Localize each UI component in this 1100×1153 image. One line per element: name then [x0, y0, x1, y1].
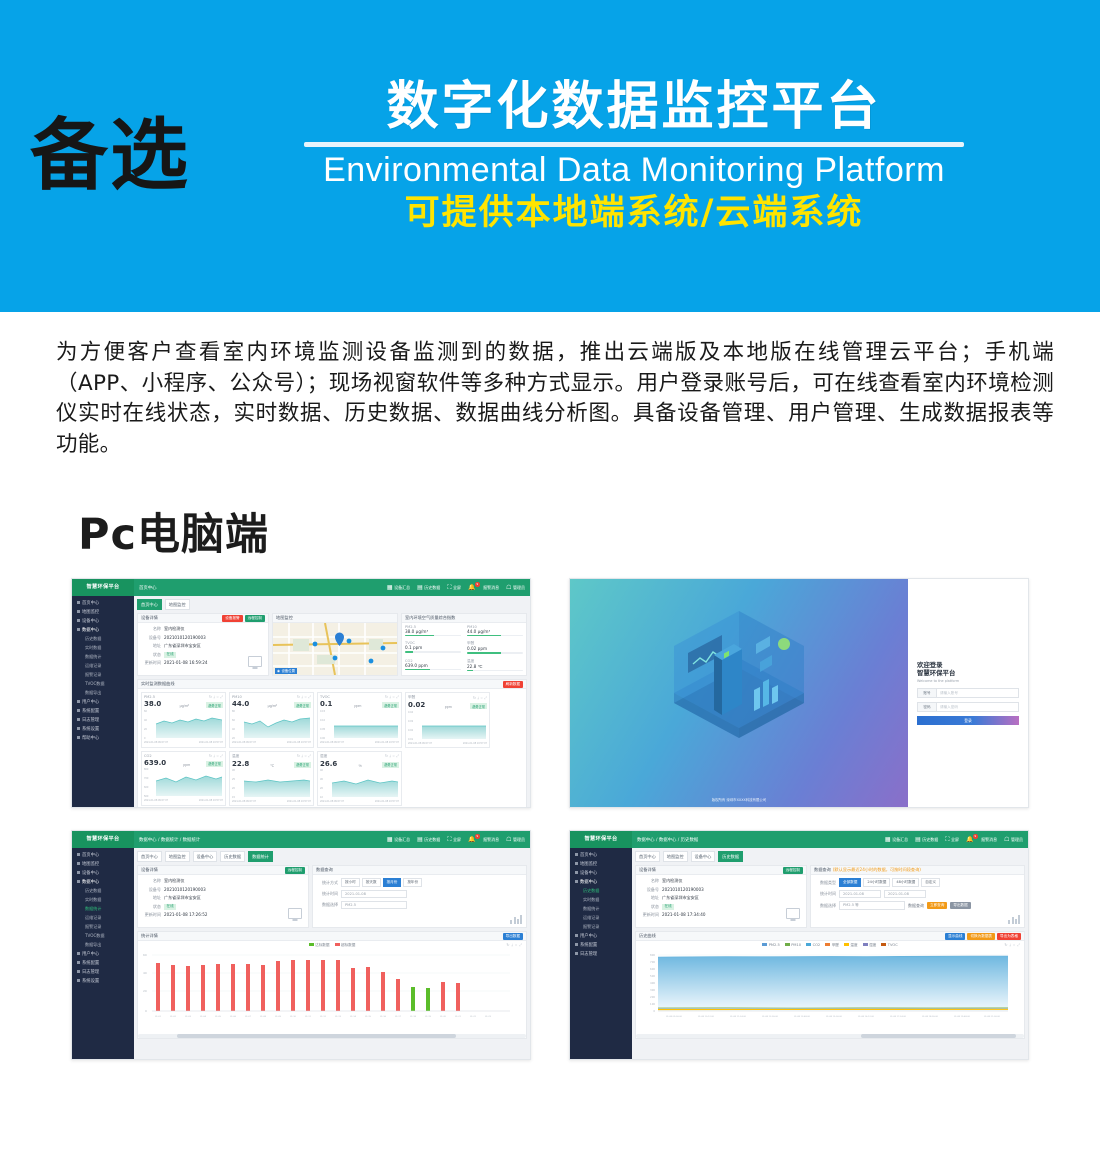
metric-value: 22.8: [232, 760, 249, 768]
statistics-method-segmented[interactable]: 按小时 按天数 按月份 按年份: [341, 878, 422, 887]
data-select-dropdown[interactable]: PM2.5 等: [839, 901, 905, 910]
account-field-label: 账号: [918, 689, 937, 697]
tab-devices[interactable]: 设备中心: [193, 851, 218, 862]
sparkline-x-axis: 2021-01-08 09:07:072021-01-08 16:57:07: [320, 800, 399, 803]
show-curve-button[interactable]: 显示曲线: [945, 933, 965, 940]
location-pin-icon: ◉: [277, 669, 280, 673]
tab-strip: 首页中心 地图监控 设备中心 历史数据: [635, 851, 1025, 862]
screenshot-history-page[interactable]: 智慧环保平台 数据中心 / 数据中心 / 历史数据 ▦设备汇总 ▤历史数据 ⛶全…: [569, 830, 1029, 1060]
legend-item-exceed[interactable]: 超标数据: [335, 943, 356, 948]
card-icon-group[interactable]: ↻⤓○⤢: [385, 695, 399, 699]
sidebar: 首页中心 地图监控 设备中心 数据中心 历史数据 实时数据 数据统计 运维记录 …: [72, 596, 134, 807]
topbar-tool-analysis[interactable]: ▦设备汇总: [885, 837, 908, 843]
sidebar-item-logs[interactable]: 日志管理: [72, 967, 134, 976]
metric-value: 26.6: [320, 760, 337, 768]
sparkline-chart: 6040200: [144, 710, 223, 740]
legend-label: 湿度: [869, 943, 876, 947]
user-icon: ☖: [1004, 837, 1009, 843]
topbar-tool-alerts[interactable]: 🔔9报警消息: [468, 837, 499, 843]
date-end-input[interactable]: 2021-01-08: [884, 890, 926, 898]
settings-icon: ○: [515, 943, 517, 947]
query-now-button[interactable]: 立即查询: [927, 902, 947, 909]
app-brand[interactable]: 智慧环保平台: [72, 579, 134, 596]
metric-card[interactable]: CO2 ↻⤓○⤢ 639.0 ppm 趋势正常: [141, 751, 226, 807]
date-start-input[interactable]: 2021-01-08: [839, 890, 881, 898]
login-account-field[interactable]: 账号 请输入账号: [917, 688, 1019, 698]
chart-scrollbar[interactable]: [636, 1034, 1024, 1038]
field-key: 名称: [141, 626, 161, 632]
refresh-icon: ↻: [506, 943, 509, 947]
expand-icon: ⤢: [396, 754, 399, 758]
query-row-dataselect: 数据选择 PM2.5 等 数据查询 立即查询 导出数据: [814, 901, 1021, 910]
svg-text:600: 600: [650, 967, 655, 971]
metric-card[interactable]: PM2.5 ↻⤓○⤢ 38.0 µg/m³ 趋势正常: [141, 692, 226, 748]
seg-option-year[interactable]: 按年份: [403, 878, 422, 887]
metric-card[interactable]: 温度 ↻⤓○⤢ 22.8 ℃ 趋势正常: [229, 751, 314, 807]
metric-card[interactable]: 湿度 ↻⤓○⤢ 26.6 % 趋势正常: [317, 751, 402, 807]
download-icon: ⤓: [389, 754, 391, 758]
bar-chart-svg: 6040200: [138, 949, 516, 1027]
sidebar-item-home[interactable]: 首页中心: [72, 850, 134, 859]
sidebar-item-label: 日志管理: [82, 969, 99, 975]
sidebar-item-devices[interactable]: 设备中心: [72, 868, 134, 877]
y-tick: 60: [232, 719, 235, 722]
topbar-tool-fullscreen[interactable]: ⛶全屏: [447, 837, 461, 843]
device-detail-panel: 设备详情 远程控制 名称室内检测仪 设备号2021010120190003 地址…: [635, 865, 807, 928]
legend-item-pm10[interactable]: PM10: [785, 943, 801, 948]
seg-option-day[interactable]: 按天数: [362, 878, 381, 887]
metric-tag: 趋势正常: [206, 761, 223, 767]
topbar-tool-fullscreen[interactable]: ⛶全屏: [945, 837, 959, 843]
report-icon: ▤: [417, 837, 423, 843]
sidebar-item-label: TVOC数据: [85, 681, 105, 687]
legend-item-pm25[interactable]: PM2.5: [762, 943, 779, 948]
download-icon: ⤓: [389, 695, 391, 699]
remote-control-button[interactable]: 远程控制: [285, 867, 305, 874]
svg-text:01-07: 01-07: [245, 1016, 252, 1018]
sidebar-item-alarms[interactable]: 报警记录: [72, 922, 134, 931]
app-brand[interactable]: 智慧环保平台: [570, 831, 632, 848]
env-cell-bar: [405, 651, 461, 653]
env-cell-value: 38.0 µg/m³: [405, 629, 461, 634]
sidebar-item-export[interactable]: 数据导出: [72, 688, 134, 697]
sidebar-item-label: 报警记录: [85, 672, 101, 678]
map-canvas[interactable]: ◉ 设备位置: [273, 623, 397, 675]
chart-scrollbar[interactable]: [138, 1034, 526, 1038]
panel-title: 地图监控: [276, 615, 293, 621]
sidebar-item-devices[interactable]: 设备中心: [570, 868, 632, 877]
expand-icon: ⤢: [308, 754, 311, 758]
sidebar: 首页中心 地图监控 设备中心 数据中心 历史数据 实时数据 数据统计 运维记录 …: [570, 848, 632, 1059]
topbar-tool-user[interactable]: ☖管理员: [1004, 837, 1023, 843]
chart-toolbox[interactable]: ↻⤓○⤢: [1004, 943, 1020, 947]
tab-map[interactable]: 地图监控: [165, 851, 190, 862]
x-tick: 2021-01-08 09:07:07: [232, 800, 256, 803]
query-row-daterange: 统计时间 2021-01-08 2021-01-08: [814, 890, 1021, 898]
download-icon: ⤓: [477, 696, 479, 700]
field-key: 更新时间: [639, 912, 659, 918]
sidebar-item-alarms[interactable]: 报警记录: [570, 922, 632, 931]
topbar-tool-alerts[interactable]: 🔔9报警消息: [966, 837, 997, 843]
password-field-placeholder: 请输入密码: [937, 705, 958, 710]
hero-title-en: Environmental Data Monitoring Platform: [208, 151, 1060, 190]
section-title-pc: Pc电脑端: [78, 500, 1100, 562]
expand-icon: ⤢: [396, 695, 399, 699]
topbar-tool-label: 全屏: [453, 837, 461, 843]
svg-text:01-08 17:24:00: 01-08 17:24:00: [890, 1016, 907, 1018]
sidebar-item-label: 日志管理: [82, 717, 99, 723]
export-data-button[interactable]: 导出数据: [503, 933, 523, 940]
hero-title-cn: 数字化数据监控平台: [208, 80, 1060, 135]
sidebar-item-realtime[interactable]: 实时数据: [72, 895, 134, 904]
seg-option-24h[interactable]: 24小时数据: [863, 878, 890, 887]
field-value: 2021010120190003: [164, 887, 206, 893]
password-field-label: 密码: [918, 703, 937, 711]
card-icon-group[interactable]: ↻⤓○⤢: [209, 695, 223, 699]
sidebar-item-config[interactable]: 系统配置: [570, 940, 632, 949]
login-subtitle: Welcome to the platform: [917, 679, 1019, 683]
env-cell-value: 0.02 ppm: [467, 646, 523, 651]
topbar-tool-user[interactable]: ☖ 管理员: [506, 585, 525, 591]
env-cell-value: 639.0 ppm: [405, 663, 461, 668]
panel-title: 统计详情: [141, 933, 158, 939]
field-key: 地址: [141, 895, 161, 901]
metric-value: 0.1: [320, 700, 332, 708]
query-label: 统计方式: [316, 880, 338, 886]
data-select-dropdown[interactable]: PM2.5: [341, 901, 407, 909]
date-picker-input[interactable]: 2021-01-08: [341, 890, 407, 898]
topbar-tool-analysis[interactable]: ▦ 设备汇总: [387, 585, 410, 591]
env-cell: PM2.5 38.0 µg/m³: [402, 623, 464, 640]
app-brand[interactable]: 智慧环保平台: [72, 831, 134, 848]
metric-name: 温度: [232, 754, 239, 759]
sidebar-item-data[interactable]: 数据中心: [570, 877, 632, 886]
sidebar-item-help[interactable]: 帮助中心: [72, 733, 134, 742]
expand-icon: ⤢: [1017, 943, 1020, 947]
sidebar-item-label: 数据导出: [85, 942, 101, 948]
svg-text:01-15: 01-15: [365, 1016, 372, 1018]
screenshot-row-1: 智慧环保平台 首页中心 ▦ 设备汇总 ▤ 历史数据 ⛶ 全屏: [0, 578, 1100, 808]
svg-text:300: 300: [650, 988, 655, 992]
sidebar-item-users[interactable]: 用户中心: [570, 931, 632, 940]
sidebar-item-map[interactable]: 地图监控: [72, 607, 134, 616]
topbar-tool-report[interactable]: ▤历史数据: [915, 837, 938, 843]
svg-text:01-02: 01-02: [170, 1016, 177, 1018]
metric-name: PM10: [232, 695, 242, 699]
sidebar-item-data[interactable]: 数据中心: [72, 877, 134, 886]
y-tick: 80: [232, 710, 235, 713]
sidebar-item-config[interactable]: 系统配置: [72, 958, 134, 967]
env-cell-bar: [467, 652, 523, 654]
field-key: 地址: [141, 643, 161, 649]
remote-control-button[interactable]: 远程控制: [245, 615, 265, 622]
topbar-tool-alerts[interactable]: 🔔 9 报警消息: [468, 585, 499, 591]
device-alarm-button[interactable]: 设备报警: [222, 615, 242, 622]
sidebar-item-label: 数据统计: [85, 906, 101, 912]
svg-text:01-06: 01-06: [230, 1016, 237, 1018]
sidebar-item-label: 数据中心: [82, 627, 99, 633]
metric-card[interactable]: 甲醛 ↻⤓○⤢ 0.02 ppm 趋势正常: [405, 692, 490, 748]
x-tick: 2021-01-08 16:57:07: [287, 741, 311, 744]
env-cell-bar: [467, 635, 523, 637]
chart-icon: ▦: [387, 837, 393, 843]
seg-option-custom[interactable]: 自定义: [921, 878, 940, 887]
legend-item-co2[interactable]: CO2: [806, 943, 820, 948]
legend-item-temp[interactable]: 温度: [844, 943, 858, 948]
breadcrumb: 首页中心: [134, 585, 387, 591]
sidebar-item-logs[interactable]: 日志管理: [72, 715, 134, 724]
screenshot-login-page[interactable]: 版权所有 深圳市XXXX科技有限公司 欢迎登录 智慧环保平台 Welcome t…: [569, 578, 1029, 808]
seg-option-all[interactable]: 全部数据: [839, 878, 861, 887]
sidebar-item-devices[interactable]: 设备中心: [72, 616, 134, 625]
svg-text:0: 0: [145, 1009, 147, 1013]
sparkline-chart: 40302010: [320, 769, 399, 799]
sidebar-item-label: 运维记录: [85, 915, 101, 921]
svg-text:01-08: 01-08: [260, 1016, 267, 1018]
sidebar-item-realtime[interactable]: 实时数据: [72, 643, 134, 652]
sidebar-item-data[interactable]: 数据中心: [72, 625, 134, 634]
sidebar-item-logs[interactable]: 日志管理: [570, 949, 632, 958]
topbar-tool-report[interactable]: ▤ 历史数据: [417, 585, 440, 591]
legend-item-tvoc[interactable]: TVOC: [881, 943, 897, 948]
sidebar-item-label: 设备中心: [82, 870, 99, 876]
sidebar-item-label: 设备中心: [82, 618, 99, 624]
refresh-icon: ↻: [385, 695, 388, 699]
x-tick: 2021-01-08 16:57:07: [199, 799, 223, 802]
topbar-tool-user[interactable]: ☖管理员: [506, 837, 525, 843]
topbar-tool-report[interactable]: ▤历史数据: [417, 837, 440, 843]
tab-map[interactable]: 地图监控: [663, 851, 688, 862]
sidebar-item-label: 系统配置: [580, 942, 597, 948]
login-submit-button[interactable]: 登录: [917, 716, 1019, 725]
download-icon: ⤓: [213, 695, 215, 699]
metric-unit: µg/m³: [180, 704, 189, 708]
login-password-field[interactable]: 密码 请输入密码: [917, 702, 1019, 712]
sidebar-item-stats[interactable]: 数据统计: [72, 904, 134, 913]
screenshot-statistics-page[interactable]: 智慧环保平台 数据中心 / 数据统计 / 数据统计 ▦设备汇总 ▤历史数据 ⛶全…: [71, 830, 531, 1060]
export-data-button[interactable]: 导出数据: [950, 902, 970, 909]
field-key: 名称: [141, 878, 161, 884]
sparkline-y-axis: 80604020: [232, 710, 235, 740]
sidebar-item-alarms[interactable]: 报警记录: [72, 670, 134, 679]
metric-card[interactable]: PM10 ↻⤓○⤢ 44.0 µg/m³ 趋势正常: [229, 692, 314, 748]
refresh-icon: ↻: [297, 754, 300, 758]
tab-history[interactable]: 历史数据: [718, 851, 743, 862]
sidebar-item-export[interactable]: 数据导出: [72, 940, 134, 949]
sidebar-item-history[interactable]: 历史数据: [72, 886, 134, 895]
query-row-date: 统计时间 2021-01-08: [316, 890, 523, 898]
svg-text:500: 500: [650, 974, 655, 978]
refresh-icon: ↻: [473, 696, 476, 700]
expand-icon: ⤢: [484, 696, 487, 700]
sidebar-item-realtime[interactable]: 实时数据: [570, 895, 632, 904]
settings-icon: ○: [1013, 943, 1015, 947]
topbar-tool-label: 管理员: [1011, 837, 1023, 843]
y-tick: 20: [144, 728, 147, 731]
user-icon: ☖: [506, 837, 511, 843]
topbar-tools: ▦ 设备汇总 ▤ 历史数据 ⛶ 全屏 🔔 9: [387, 585, 530, 591]
sidebar-item-label: 实时数据: [85, 645, 101, 651]
tab-statistics[interactable]: 数据统计: [248, 851, 273, 862]
settings-icon: ○: [392, 754, 394, 758]
seg-option-month[interactable]: 按月份: [383, 878, 402, 887]
env-cell: CO2 639.0 ppm: [402, 657, 464, 675]
legend-item-hcho[interactable]: 甲醛: [825, 943, 839, 948]
sidebar-item-label: 帮助中心: [82, 735, 99, 741]
metric-name: TVOC: [320, 695, 330, 699]
metric-value: 44.0: [232, 700, 249, 708]
sparkline-x-axis: 2021-01-08 09:07:072021-01-08 16:57:07: [144, 741, 223, 744]
svg-text:01-10: 01-10: [290, 1016, 297, 1018]
topbar-tool-analysis[interactable]: ▦设备汇总: [387, 837, 410, 843]
sidebar-item-tvoc[interactable]: TVOC数据: [72, 679, 134, 688]
svg-text:01-08 18:36:00: 01-08 18:36:00: [922, 1016, 939, 1018]
legend-item-pass[interactable]: 达标数据: [309, 943, 330, 948]
breadcrumb: 数据中心 / 数据统计 / 数据统计: [134, 837, 387, 843]
env-cell-bar: [405, 635, 461, 637]
sparkline-y-axis: 30252015: [232, 769, 235, 799]
svg-text:01-21: 01-21: [455, 1016, 462, 1018]
env-index-panel: 室内环境空气质量综合指数 PM2.5 38.0 µg/m³ PM10: [401, 613, 527, 676]
y-tick: 25: [232, 778, 235, 781]
sidebar-item-ops[interactable]: 运维记录: [570, 913, 632, 922]
svg-text:60: 60: [143, 953, 147, 957]
x-tick: 2021-01-08 16:57:07: [463, 742, 487, 745]
sidebar-item-label: 日志管理: [580, 951, 597, 957]
tab-map[interactable]: 地图监控: [165, 599, 190, 610]
screenshot-dashboard-overview[interactable]: 智慧环保平台 首页中心 ▦ 设备汇总 ▤ 历史数据 ⛶ 全屏: [71, 578, 531, 808]
query-secondary-label: 数据查询: [908, 903, 924, 909]
sidebar-item-home[interactable]: 首页中心: [570, 850, 632, 859]
hero-banner: 备选 数字化数据监控平台 Environmental Data Monitori…: [0, 0, 1100, 312]
sidebar-item-label: 数据统计: [583, 906, 599, 912]
sidebar-item-stats[interactable]: 数据统计: [570, 904, 632, 913]
refresh-data-button[interactable]: 刷新数据: [503, 681, 523, 688]
x-tick: 2021-01-08 09:07:07: [232, 741, 256, 744]
sidebar-item-label: 数据统计: [85, 654, 101, 660]
tab-strip: 首页中心 地图监控: [137, 599, 527, 610]
env-cell-bar: [405, 669, 461, 671]
seg-option-48h[interactable]: 48小时数据: [892, 878, 919, 887]
login-illustration-area: 版权所有 深圳市XXXX科技有限公司: [570, 579, 908, 807]
sidebar-item-config[interactable]: 系统配置: [72, 706, 134, 715]
topbar-tool-fullscreen[interactable]: ⛶ 全屏: [447, 585, 461, 591]
topbar-tool-label: 管理员: [513, 585, 525, 591]
legend-label: PM10: [791, 943, 801, 947]
seg-option-hour[interactable]: 按小时: [341, 878, 360, 887]
sidebar-item-map[interactable]: 地图监控: [570, 859, 632, 868]
y-tick: 500: [144, 795, 148, 798]
refresh-icon: ↻: [209, 754, 212, 758]
sidebar-item-history[interactable]: 历史数据: [570, 886, 632, 895]
sidebar-item-users[interactable]: 用户中心: [72, 697, 134, 706]
sidebar-item-label: 实时数据: [583, 897, 599, 903]
card-icon-group[interactable]: ↻⤓○⤢: [385, 754, 399, 758]
sidebar-item-settings[interactable]: 系统设置: [72, 724, 134, 733]
card-icon-group[interactable]: ↻⤓○⤢: [209, 754, 223, 758]
data-type-segmented[interactable]: 全部数据 24小时数据 48小时数据 自定义: [839, 878, 940, 887]
field-value: 2021-01-08 16:59:24: [164, 660, 207, 666]
switch-to-table-button[interactable]: 切换为数据表: [967, 933, 995, 940]
sidebar-item-home[interactable]: 首页中心: [72, 598, 134, 607]
legend-item-humidity[interactable]: 湿度: [863, 943, 877, 948]
sparkline-chart: 0.150.100.050.00: [320, 710, 399, 740]
sidebar-item-settings[interactable]: 系统设置: [72, 976, 134, 985]
tab-home[interactable]: 首页中心: [137, 851, 162, 862]
refresh-icon: ↻: [1004, 943, 1007, 947]
field-key: 状态: [639, 904, 659, 910]
sparkline-x-axis: 2021-01-08 09:07:072021-01-08 16:57:07: [232, 741, 311, 744]
tab-home[interactable]: 首页中心: [635, 851, 660, 862]
screenshot-row-2: 智慧环保平台 数据中心 / 数据统计 / 数据统计 ▦设备汇总 ▤历史数据 ⛶全…: [0, 830, 1100, 1060]
metric-unit: ℃: [270, 764, 274, 768]
svg-text:20: 20: [143, 989, 147, 993]
x-tick: 2021-01-08 09:07:07: [144, 741, 168, 744]
field-value: 室内检测仪: [662, 878, 682, 884]
tab-history[interactable]: 历史数据: [220, 851, 245, 862]
monitor-icon: [786, 908, 800, 919]
card-icon-group[interactable]: ↻⤓○⤢: [297, 754, 311, 758]
topbar-tool-label: 历史数据: [922, 837, 938, 843]
remote-control-button[interactable]: 远程控制: [783, 867, 803, 874]
y-tick: 20: [232, 737, 235, 740]
sidebar-item-map[interactable]: 地图监控: [72, 859, 134, 868]
sidebar-item-tvoc[interactable]: TVOC数据: [72, 931, 134, 940]
card-icon-group[interactable]: ↻⤓○⤢: [473, 696, 487, 700]
export-table-button[interactable]: 导出为表格: [997, 933, 1021, 940]
sidebar-item-users[interactable]: 用户中心: [72, 949, 134, 958]
x-tick: 2021-01-08 16:57:07: [199, 741, 223, 744]
sidebar-item-stats[interactable]: 数据统计: [72, 652, 134, 661]
env-cell-value: 22.8 ℃: [467, 664, 523, 669]
x-tick: 2021-01-08 09:07:07: [408, 742, 432, 745]
download-icon: ⤓: [213, 754, 215, 758]
field-value: 2021010120190003: [662, 887, 704, 893]
refresh-icon: ↻: [297, 695, 300, 699]
card-icon-group[interactable]: ↻⤓○⤢: [297, 695, 311, 699]
chart-toolbox[interactable]: ↻⤓○⤢: [506, 943, 522, 947]
svg-text:40: 40: [143, 971, 147, 975]
y-tick: 40: [232, 728, 235, 731]
legend-label: TVOC: [888, 943, 898, 947]
sidebar-item-ops[interactable]: 运维记录: [72, 913, 134, 922]
env-cell: TVOC 0.1 ppm: [402, 640, 464, 658]
panel-title: 数据查询 (默认显示最近24小时的数据，可按时间段查询): [814, 867, 921, 873]
topbar-tool-label: 设备汇总: [892, 837, 908, 843]
field-key: 地址: [639, 895, 659, 901]
metric-tag: 趋势正常: [294, 702, 311, 708]
legend-label: 达标数据: [315, 943, 329, 947]
metric-value: 38.0: [144, 700, 161, 708]
settings-icon: ○: [304, 754, 306, 758]
y-tick: 15: [232, 796, 235, 799]
monitor-icon: [248, 656, 262, 667]
sidebar-item-history[interactable]: 历史数据: [72, 634, 134, 643]
tab-devices[interactable]: 设备中心: [691, 851, 716, 862]
sidebar-item-ops[interactable]: 运维记录: [72, 661, 134, 670]
status-badge: 在线: [164, 652, 176, 658]
y-tick: 700: [144, 777, 148, 780]
sparkline-chart: 800700600500: [144, 768, 223, 798]
metric-card[interactable]: TVOC ↻⤓○⤢ 0.1 ppm 趋势正常: [317, 692, 402, 748]
sidebar-item-label: 设备中心: [580, 870, 597, 876]
sparkline-y-axis: 40302010: [320, 769, 323, 799]
metric-tag: 趋势正常: [470, 703, 487, 709]
y-tick: 0.15: [320, 710, 325, 713]
decorative-bars-icon: [1008, 915, 1020, 924]
sidebar-item-label: 地图监控: [82, 609, 99, 615]
tab-home[interactable]: 首页中心: [137, 599, 162, 610]
